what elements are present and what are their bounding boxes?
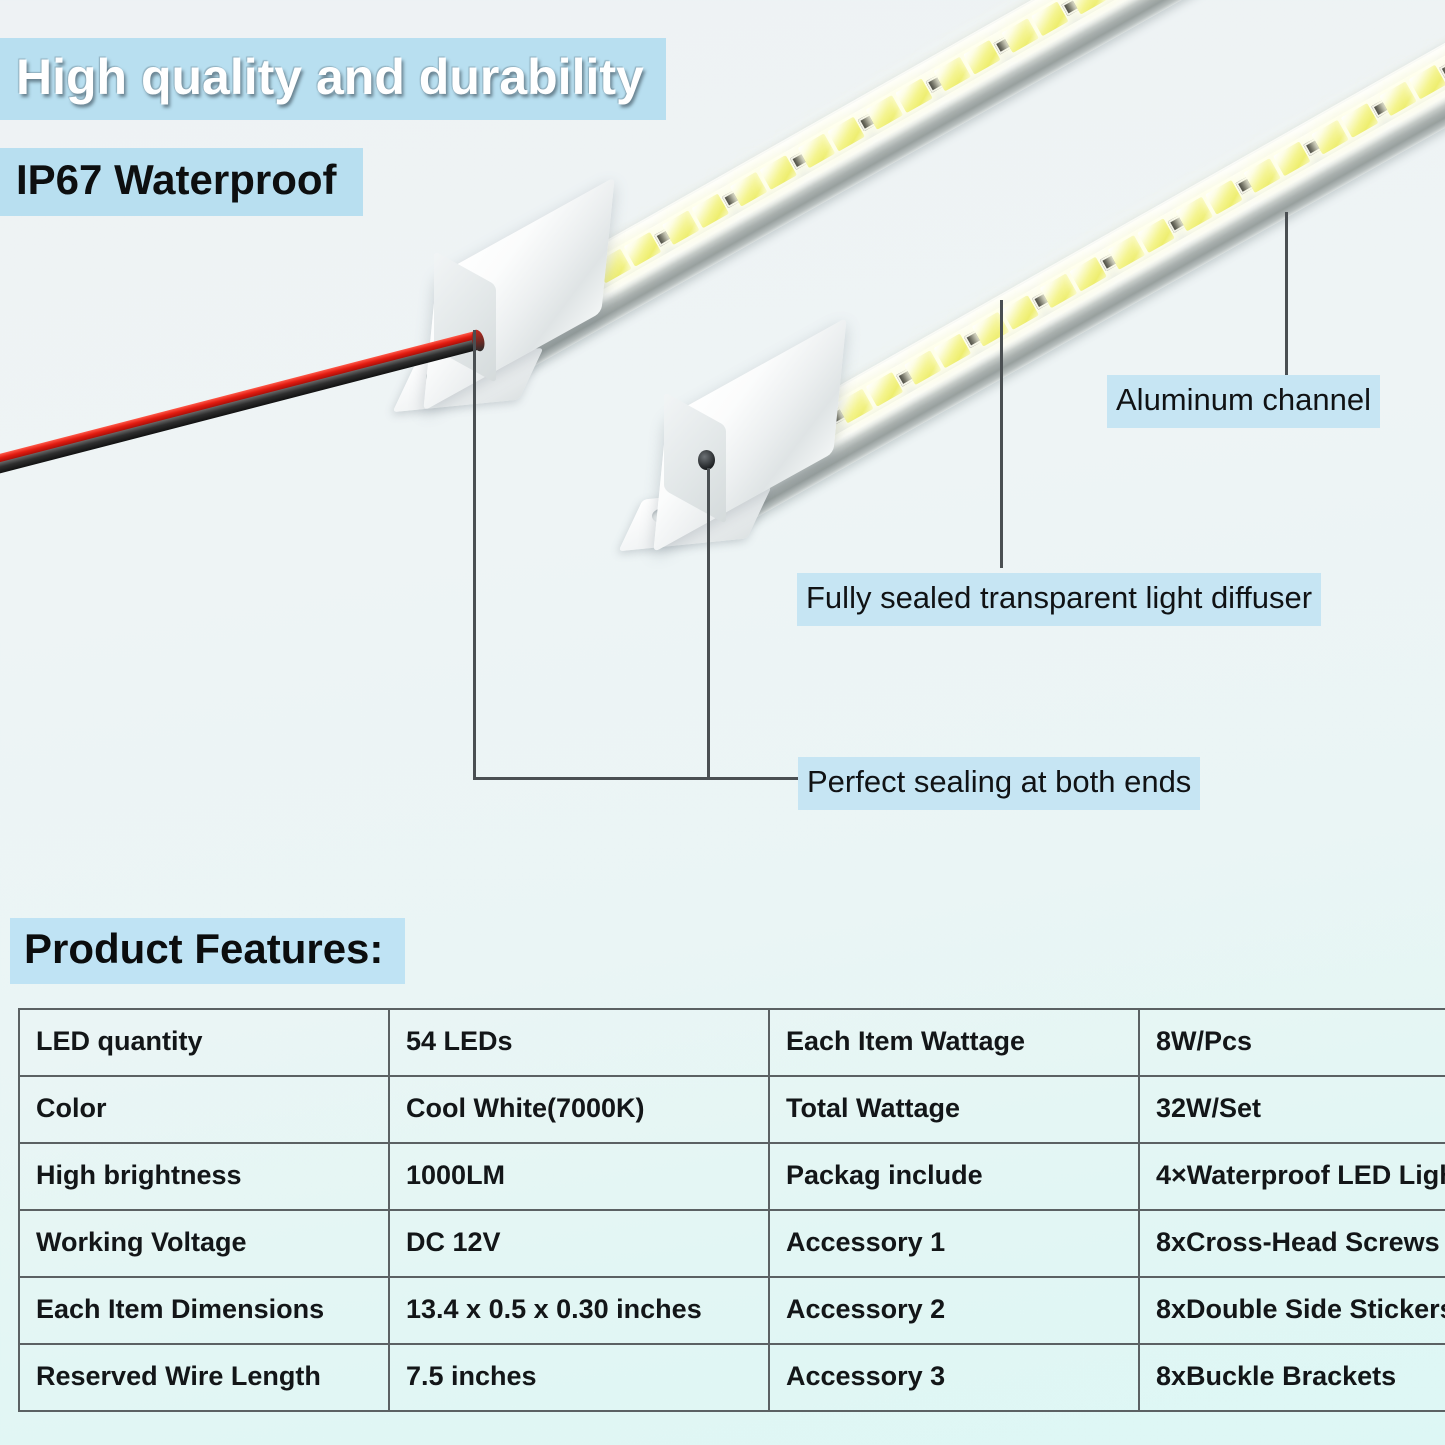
spec-value: DC 12V	[389, 1210, 769, 1277]
spec-value: 8xDouble Side Stickers	[1139, 1277, 1445, 1344]
leader-line-aluminum-channel	[1285, 212, 1288, 384]
leader-line-light-diffuser	[1000, 300, 1003, 568]
spec-key: Total Wattage	[769, 1076, 1139, 1143]
callout-aluminum-channel: Aluminum channel	[1107, 375, 1380, 428]
table-row: Reserved Wire Length 7.5 inches Accessor…	[19, 1344, 1445, 1411]
spec-value: 4×Waterproof LED Light Bars	[1139, 1143, 1445, 1210]
product-features-heading: Product Features:	[10, 918, 405, 984]
subhead-banner: IP67 Waterproof	[0, 148, 363, 216]
spec-key: Each Item Wattage	[769, 1009, 1139, 1076]
spec-key: Working Voltage	[19, 1210, 389, 1277]
spec-key: LED quantity	[19, 1009, 389, 1076]
spec-key: Color	[19, 1076, 389, 1143]
spec-value: 8W/Pcs	[1139, 1009, 1445, 1076]
spec-value: 7.5 inches	[389, 1344, 769, 1411]
spec-key: Accessory 2	[769, 1277, 1139, 1344]
product-photo	[0, 0, 1445, 880]
spec-value: 8xCross-Head Screws	[1139, 1210, 1445, 1277]
table-row: High brightness 1000LM Packag include 4×…	[19, 1143, 1445, 1210]
leader-line-end-cap-upper	[473, 330, 476, 777]
spec-value: 8xBuckle Brackets	[1139, 1344, 1445, 1411]
spec-key: Reserved Wire Length	[19, 1344, 389, 1411]
table-row: Color Cool White(7000K) Total Wattage 32…	[19, 1076, 1445, 1143]
wire-grommet-lower	[698, 450, 715, 470]
leader-line-end-cap-lower	[707, 468, 710, 777]
callout-light-diffuser: Fully sealed transparent light diffuser	[797, 573, 1321, 626]
spec-value: 32W/Set	[1139, 1076, 1445, 1143]
specifications-table: LED quantity 54 LEDs Each Item Wattage 8…	[18, 1008, 1445, 1412]
product-infographic: Aluminum channel Fully sealed transparen…	[0, 0, 1445, 1445]
spec-key: Accessory 1	[769, 1210, 1139, 1277]
spec-value: 1000LM	[389, 1143, 769, 1210]
leader-line-end-sealing-horizontal	[473, 777, 798, 780]
table-row: LED quantity 54 LEDs Each Item Wattage 8…	[19, 1009, 1445, 1076]
spec-key: Packag include	[769, 1143, 1139, 1210]
callout-end-sealing: Perfect sealing at both ends	[798, 757, 1200, 810]
spec-value: Cool White(7000K)	[389, 1076, 769, 1143]
headline-banner: High quality and durability	[0, 38, 666, 120]
spec-key: Accessory 3	[769, 1344, 1139, 1411]
spec-key: Each Item Dimensions	[19, 1277, 389, 1344]
table-row: Each Item Dimensions 13.4 x 0.5 x 0.30 i…	[19, 1277, 1445, 1344]
table-row: Working Voltage DC 12V Accessory 1 8xCro…	[19, 1210, 1445, 1277]
spec-value: 54 LEDs	[389, 1009, 769, 1076]
spec-key: High brightness	[19, 1143, 389, 1210]
spec-value: 13.4 x 0.5 x 0.30 inches	[389, 1277, 769, 1344]
